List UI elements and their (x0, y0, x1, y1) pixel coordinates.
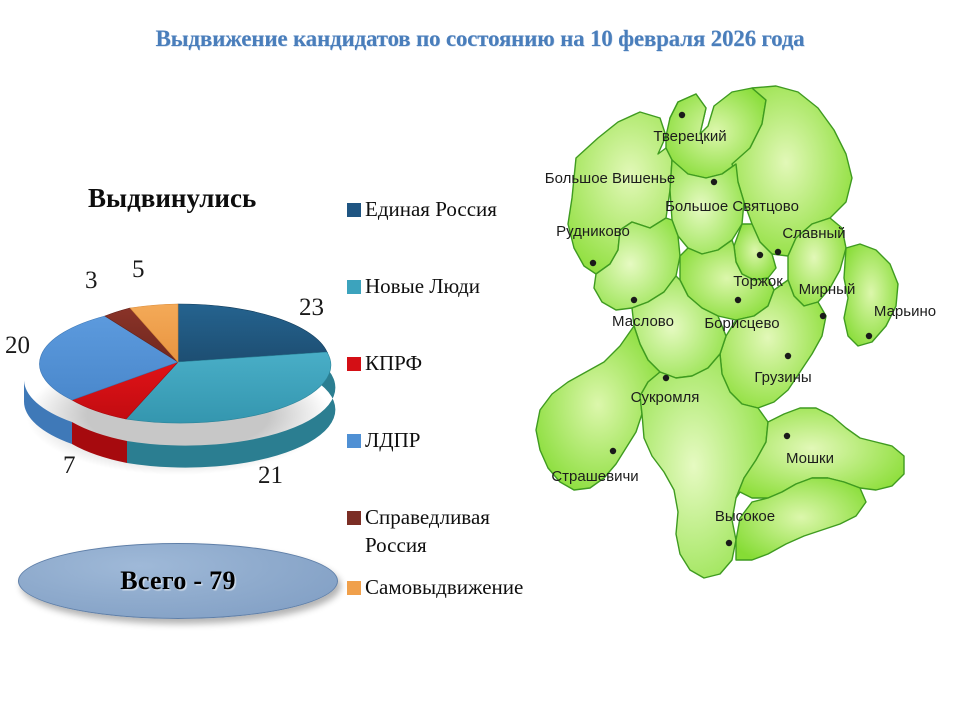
chart-legend: Единая Россия Новые Люди КПРФ ЛДПР Справ… (347, 196, 522, 615)
legend-item-spravedlivaya-rossiya[interactable]: Справедливая Россия (347, 504, 522, 560)
legend-item-label: КПРФ (365, 350, 422, 378)
legend-item-label: Единая Россия (365, 196, 497, 224)
map-dot-bolshoe-svyattsovo (711, 179, 717, 185)
pie-value-label-samovydvizhenie: 5 (132, 256, 145, 284)
map-dot-marino (866, 333, 872, 339)
pie-value-label-edinaya-rossiya: 23 (299, 294, 324, 322)
pie-value-label-novye-lyudi: 21 (258, 462, 283, 490)
map-label-slavny: Славный (782, 225, 845, 242)
map-label-tveretsky: Тверецкий (653, 128, 726, 145)
map-label-torzhok: Торжок (733, 273, 783, 290)
map-dot-maslovo (631, 297, 637, 303)
legend-item-kprf[interactable]: КПРФ (347, 350, 522, 378)
legend-swatch-icon (347, 434, 361, 448)
map-dot-moshki (784, 433, 790, 439)
map-label-bolshoe-svyattsovo: Большое Святцово (665, 198, 799, 215)
map-label-marino: Марьино (874, 303, 936, 320)
map-dot-tveretsky (679, 112, 685, 118)
map-dot-boristsevo (735, 297, 741, 303)
legend-item-label: ЛДПР (365, 427, 420, 455)
legend-item-ldpr[interactable]: ЛДПР (347, 427, 522, 455)
legend-swatch-icon (347, 581, 361, 595)
pie-value-label-kprf: 7 (63, 452, 76, 480)
map-dot-strashevichi (610, 448, 616, 454)
total-badge: Всего - 79 (18, 543, 338, 619)
map-label-boristsevo: Борисцево (704, 315, 779, 332)
map-dot-mirny (820, 313, 826, 319)
map-label-mirny: Мирный (799, 281, 856, 298)
map-label-bolshoe-vishenye: Большое Вишенье (545, 170, 676, 187)
chart-heading: Выдвинулись (88, 183, 256, 214)
legend-swatch-icon (347, 203, 361, 217)
page-title: Выдвижение кандидатов по состоянию на 10… (0, 26, 960, 52)
map-label-moshki: Мошки (786, 450, 834, 467)
map-label-vysokoe: Высокое (715, 508, 775, 525)
map-label-strashevichi: Страшевичи (551, 468, 638, 485)
map-label-sukromlya: Сукромля (631, 389, 700, 406)
legend-item-samovydvizhenie[interactable]: Самовыдвижение (347, 574, 522, 602)
map-dot-sukromlya (663, 375, 669, 381)
pie-value-label-spravedlivaya-rossiya: 3 (85, 267, 98, 295)
map-dot-slavny (775, 249, 781, 255)
map-dot-torzhok (757, 252, 763, 258)
legend-item-edinaya-rossiya[interactable]: Единая Россия (347, 196, 522, 224)
legend-swatch-icon (347, 280, 361, 294)
district-map: Тверецкий Большое Вишенье Большое Святцо… (500, 78, 960, 640)
pie-value-label-ldpr: 20 (5, 332, 30, 360)
legend-item-label: Новые Люди (365, 273, 480, 301)
legend-item-novye-lyudi[interactable]: Новые Люди (347, 273, 522, 301)
map-label-maslovo: Маслово (612, 313, 674, 330)
total-badge-label: Всего - 79 (18, 543, 338, 619)
map-dot-vysokoe (726, 540, 732, 546)
map-dot-rudnikovo (590, 260, 596, 266)
map-label-rudnikovo: Рудниково (556, 223, 630, 240)
legend-swatch-icon (347, 357, 361, 371)
legend-swatch-icon (347, 511, 361, 525)
legend-item-label: Справедливая Россия (365, 504, 522, 560)
pie-chart (10, 255, 340, 480)
map-label-gruziny: Грузины (754, 369, 811, 386)
map-dot-gruziny (785, 353, 791, 359)
